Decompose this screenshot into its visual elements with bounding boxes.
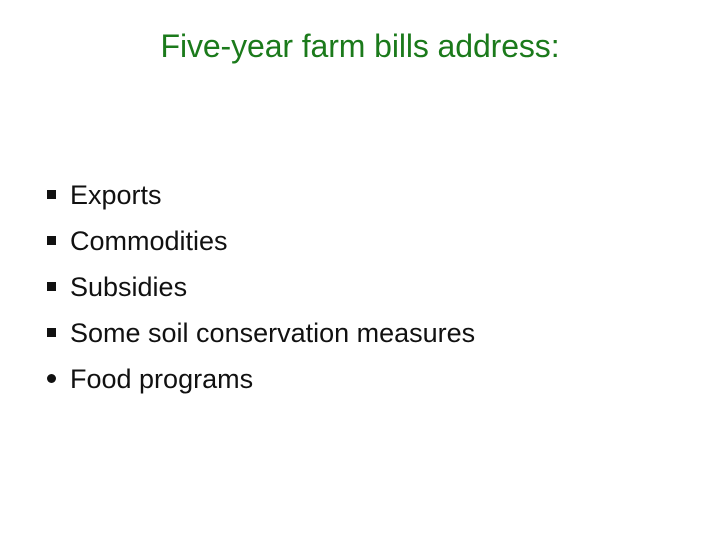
list-item: Some soil conservation measures <box>45 316 665 362</box>
list-item: Subsidies <box>45 270 665 316</box>
list-item: Food programs <box>45 362 665 408</box>
list-item-label: Commodities <box>70 224 228 258</box>
presentation-slide: Five-year farm bills address: Exports Co… <box>0 0 720 540</box>
list-item-label: Subsidies <box>70 270 187 304</box>
list-item: Exports <box>45 178 665 224</box>
list-item-label: Exports <box>70 178 162 212</box>
slide-title: Five-year farm bills address: <box>0 26 720 66</box>
list-item-label: Food programs <box>70 362 253 396</box>
list-item-label: Some soil conservation measures <box>70 316 475 350</box>
list-item: Commodities <box>45 224 665 270</box>
bullet-list: Exports Commodities Subsidies Some soil … <box>45 178 665 408</box>
